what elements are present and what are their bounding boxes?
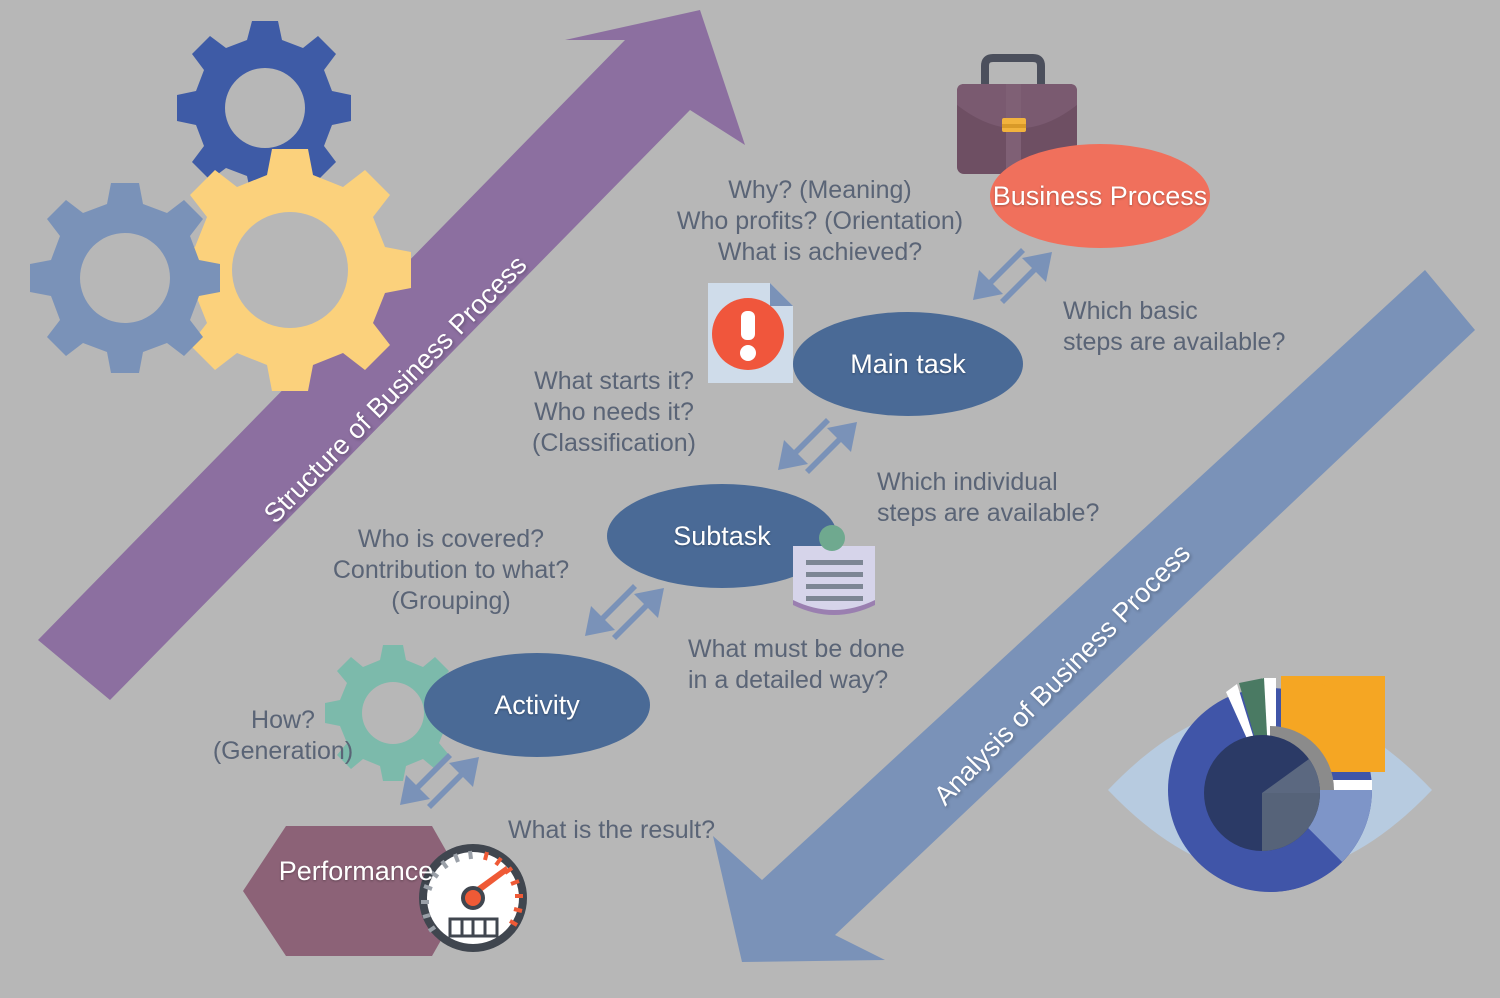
- diagram-canvas: Structure of Business Process Analysis o…: [0, 0, 1500, 998]
- node-subtask-label: Subtask: [612, 521, 832, 552]
- node-business-process-label: Business Process: [990, 181, 1210, 212]
- question-why-meaning: Why? (Meaning) Who profits? (Orientation…: [650, 175, 990, 268]
- question-individual-steps: Which individual steps are available?: [877, 467, 1177, 529]
- question-how-generation: How? (Generation): [188, 705, 378, 767]
- gear-icon-steel: [30, 183, 220, 373]
- question-detailed-way: What must be done in a detailed way?: [688, 634, 988, 696]
- question-what-result: What is the result?: [508, 815, 808, 846]
- gear-icon-blue: [177, 21, 351, 195]
- connector-main-task-subtask: [778, 418, 857, 474]
- diagram-graphics: [0, 0, 1500, 998]
- question-who-is-covered: Who is covered? Contribution to what? (G…: [296, 524, 606, 617]
- node-performance-label: Performance: [246, 856, 466, 887]
- node-main-task-label: Main task: [798, 349, 1018, 380]
- question-basic-steps: Which basic steps are available?: [1063, 296, 1393, 358]
- eye-pie-chart-icon: [1108, 676, 1432, 892]
- question-what-starts-it: What starts it? Who needs it? (Classific…: [494, 366, 734, 459]
- node-activity-label: Activity: [427, 690, 647, 721]
